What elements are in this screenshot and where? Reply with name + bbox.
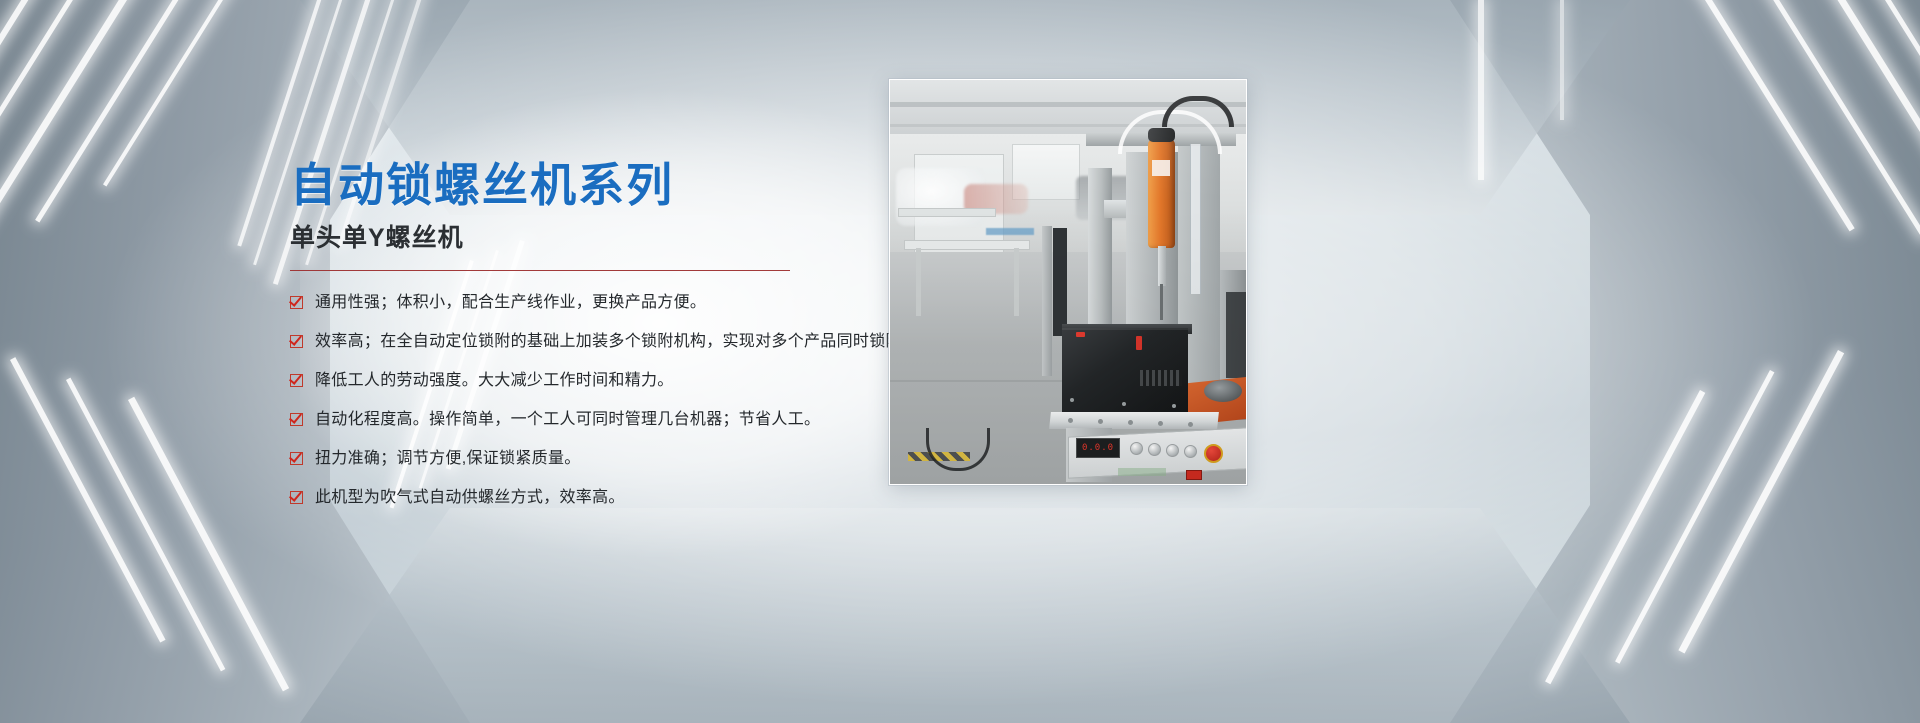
list-item: 自动化程度高。操作简单，一个工人可同时管理几台机器；节省人工。 xyxy=(290,410,900,430)
feature-text: 降低工人的劳动强度。大大减少工作时间和精力。 xyxy=(315,371,674,391)
page-title: 自动锁螺丝机系列 xyxy=(290,160,900,212)
check-icon xyxy=(290,452,303,465)
list-item: 降低工人的劳动强度。大大减少工作时间和精力。 xyxy=(290,371,900,391)
feature-text: 自动化程度高。操作简单，一个工人可同时管理几台机器；节省人工。 xyxy=(315,410,820,430)
check-icon xyxy=(290,335,303,348)
check-icon xyxy=(290,296,303,309)
check-icon xyxy=(290,374,303,387)
title-divider xyxy=(290,270,790,271)
list-item: 此机型为吹气式自动供螺丝方式，效率高。 xyxy=(290,488,900,508)
feature-text: 扭力准确；调节方便,保证锁紧质量。 xyxy=(315,449,581,469)
page-subtitle: 单头单Y螺丝机 xyxy=(290,218,900,254)
product-banner: 自动锁螺丝机系列 单头单Y螺丝机 通用性强；体积小，配合生产线作业，更换产品方便… xyxy=(0,0,1920,723)
list-item: 通用性强；体积小，配合生产线作业，更换产品方便。 xyxy=(290,293,900,313)
check-icon xyxy=(290,491,303,504)
feature-text: 通用性强；体积小，配合生产线作业，更换产品方便。 xyxy=(315,293,706,313)
text-column: 自动锁螺丝机系列 单头单Y螺丝机 通用性强；体积小，配合生产线作业，更换产品方便… xyxy=(290,160,900,527)
list-item: 扭力准确；调节方便,保证锁紧质量。 xyxy=(290,449,900,469)
list-item: 效率高；在全自动定位锁附的基础上加装多个锁附机构，实现对多个产品同时锁附。 xyxy=(290,332,900,352)
feature-text: 此机型为吹气式自动供螺丝方式，效率高。 xyxy=(315,488,625,508)
feature-list: 通用性强；体积小，配合生产线作业，更换产品方便。 效率高；在全自动定位锁附的基础… xyxy=(290,293,900,508)
banner-content: 自动锁螺丝机系列 单头单Y螺丝机 通用性强；体积小，配合生产线作业，更换产品方便… xyxy=(0,0,1920,723)
check-icon xyxy=(290,413,303,426)
feature-text: 效率高；在全自动定位锁附的基础上加装多个锁附机构，实现对多个产品同时锁附。 xyxy=(315,332,918,352)
photo-shading-overlay xyxy=(890,80,1246,484)
product-photo: 0.0.0 xyxy=(889,79,1247,485)
